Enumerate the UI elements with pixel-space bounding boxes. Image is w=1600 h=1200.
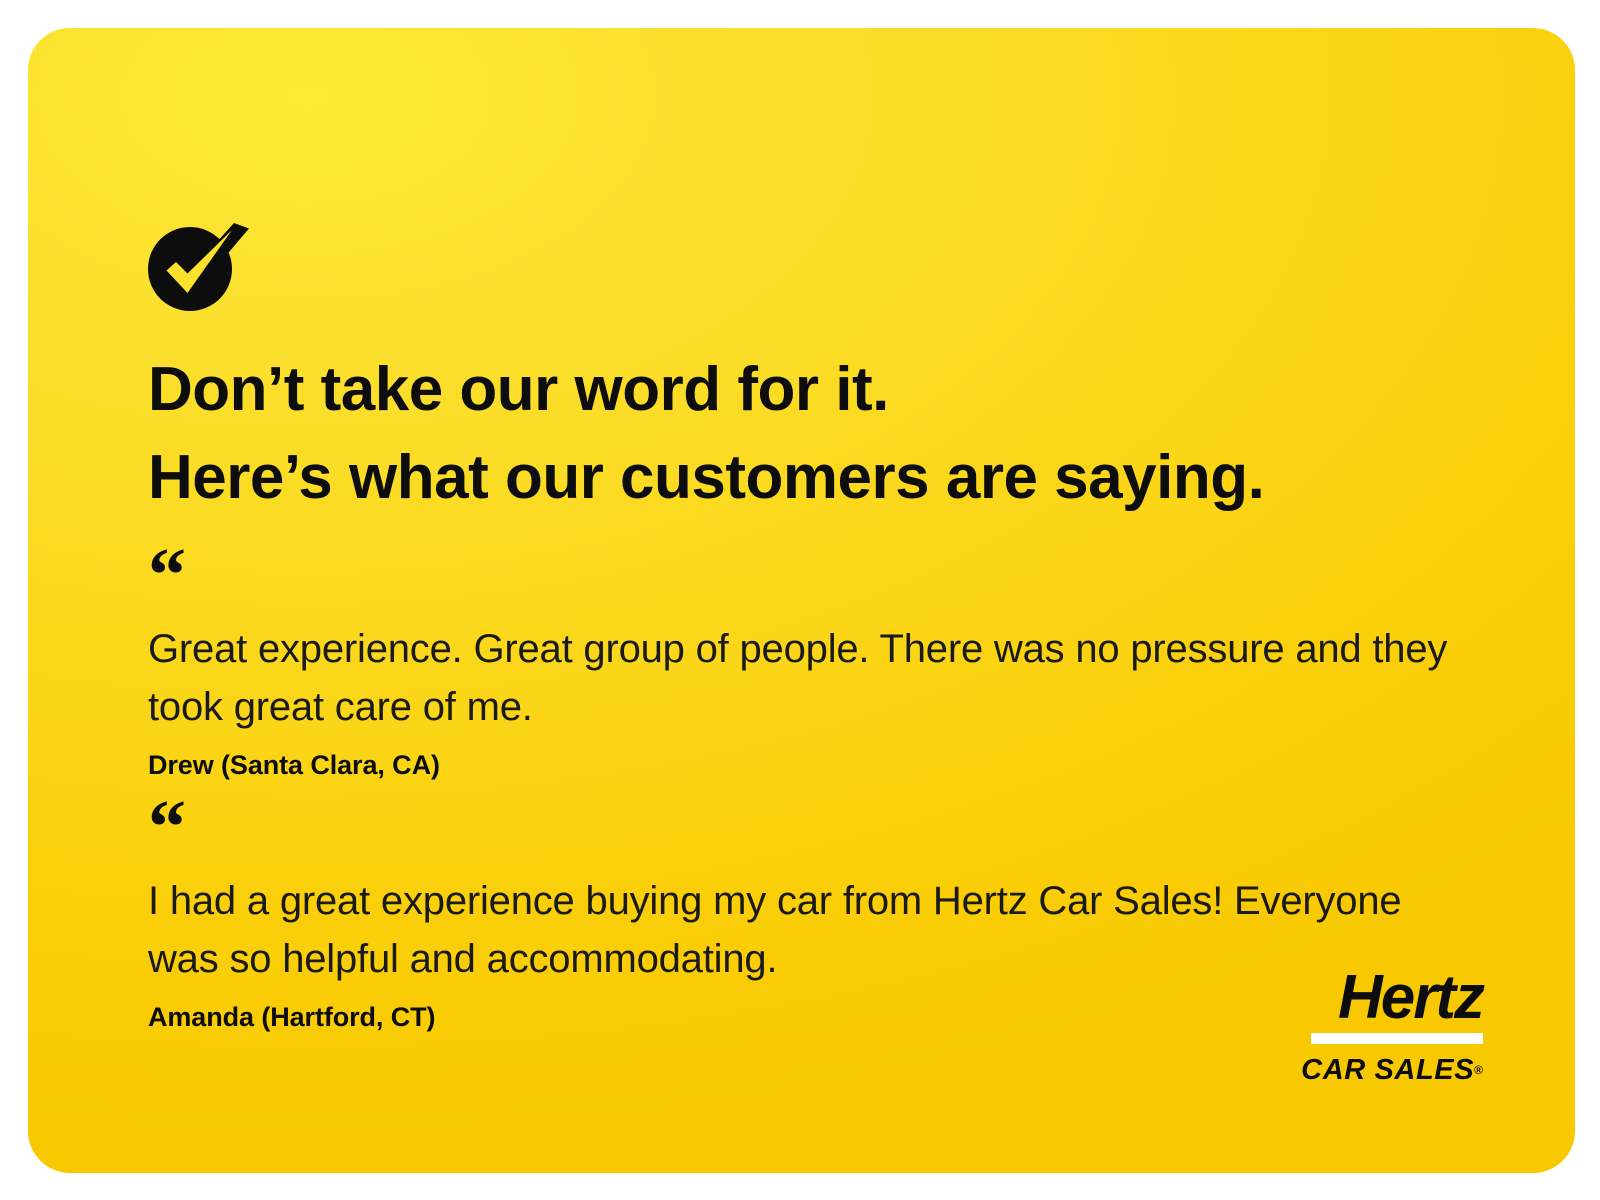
registered-trademark-icon: ® (1474, 1063, 1483, 1077)
headline-line-1: Don’t take our word for it. (148, 346, 1528, 434)
quote-mark-icon: “ (148, 810, 1488, 844)
logo-subtitle: CAR SALES® (1301, 1055, 1483, 1085)
screenshot-stage: Don’t take our word for it. Here’s what … (0, 0, 1600, 1200)
logo-wordmark: Hertz (1301, 966, 1483, 1030)
testimonial-quote: I had a great experience buying my car f… (148, 872, 1458, 988)
testimonial-item: “ I had a great experience buying my car… (148, 810, 1488, 1033)
testimonial-quote: Great experience. Great group of people.… (148, 620, 1458, 736)
headline-line-2: Here’s what our customers are saying. (148, 434, 1528, 522)
hertz-car-sales-logo: Hertz CAR SALES® (1301, 966, 1483, 1085)
quote-mark-icon: “ (148, 558, 1488, 592)
page-title: Don’t take our word for it. Here’s what … (148, 346, 1528, 522)
testimonial-card: Don’t take our word for it. Here’s what … (28, 28, 1575, 1173)
check-circle-icon (146, 221, 250, 313)
testimonial-item: “ Great experience. Great group of peopl… (148, 558, 1488, 781)
testimonial-author: Drew (Santa Clara, CA) (148, 750, 1488, 781)
logo-underline-rule (1311, 1033, 1483, 1044)
testimonial-author: Amanda (Hartford, CT) (148, 1002, 1488, 1033)
logo-subtitle-text: CAR SALES (1301, 1054, 1474, 1086)
